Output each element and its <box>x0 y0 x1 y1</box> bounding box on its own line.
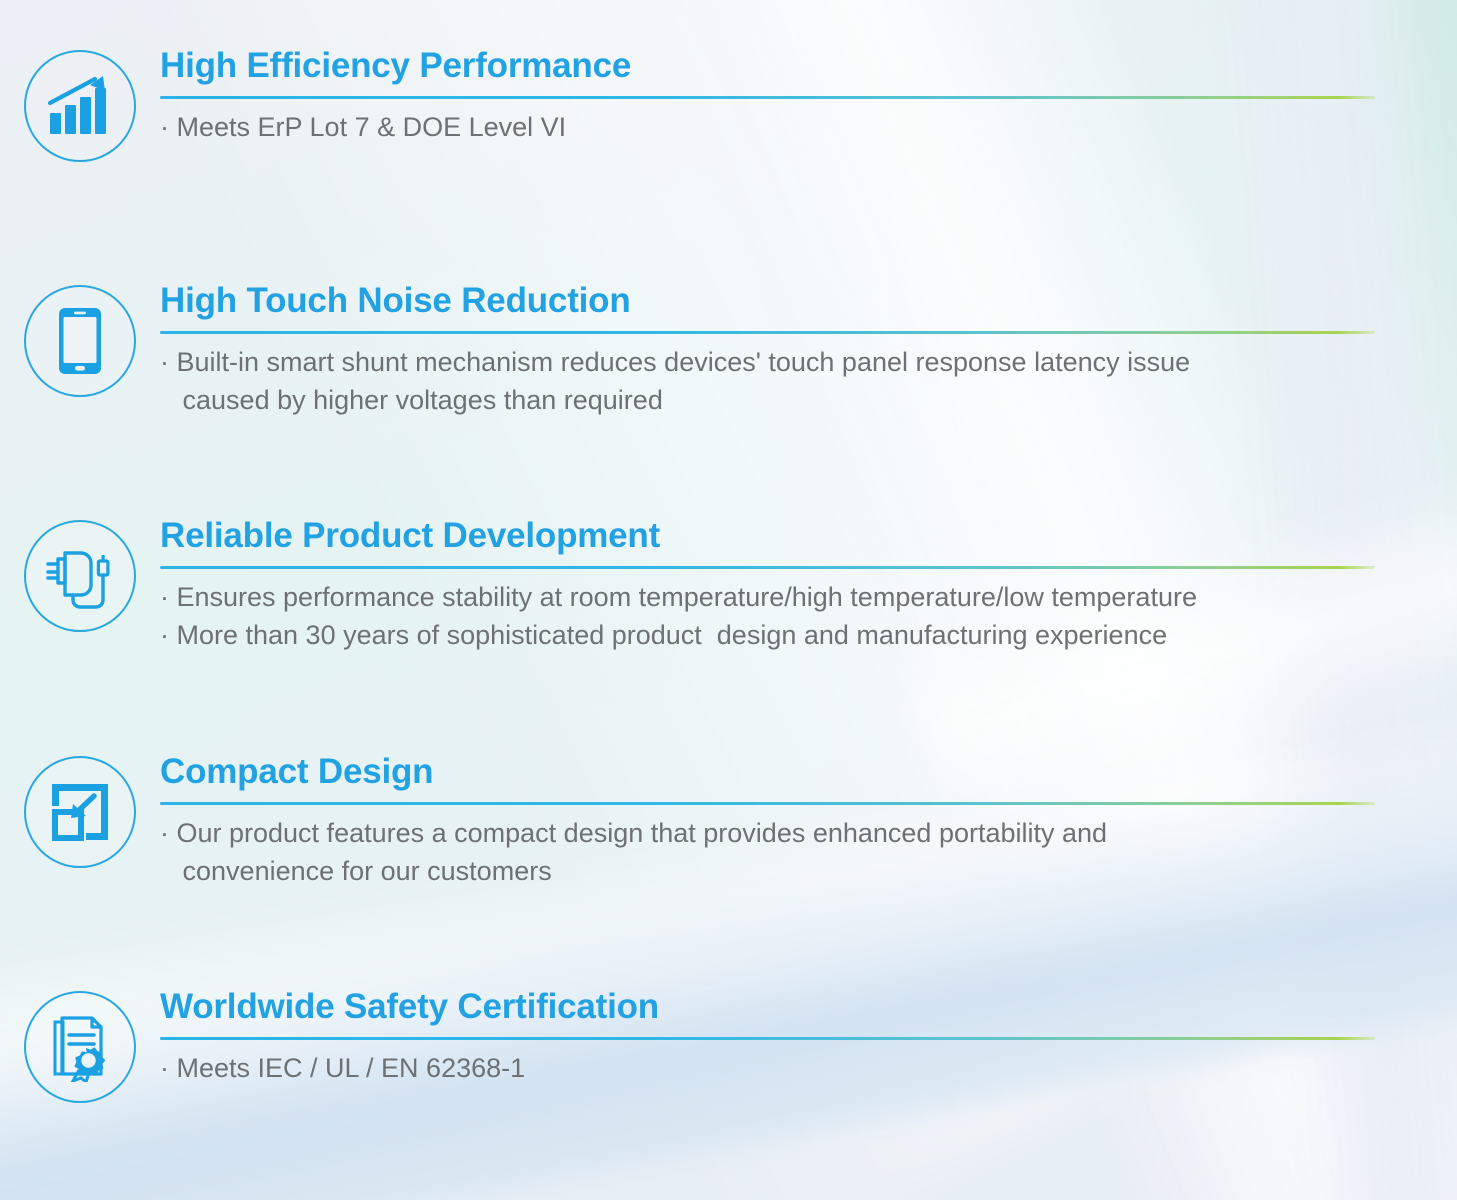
feature-lines: · Meets ErP Lot 7 & DOE Level VI <box>160 109 1375 147</box>
feature-line: convenience for our customers <box>160 853 1375 891</box>
feature-line: · Meets IEC / UL / EN 62368-1 <box>160 1050 1375 1088</box>
feature-title: Worldwide Safety Certification <box>160 987 1375 1026</box>
feature-item-high-touch-noise-reduction: High Touch Noise Reduction · Built-in sm… <box>0 281 1457 420</box>
feature-line: · Our product features a compact design … <box>160 815 1375 853</box>
feature-line: · Ensures performance stability at room … <box>160 579 1375 617</box>
smartphone-icon <box>24 285 136 397</box>
feature-line: · Meets ErP Lot 7 & DOE Level VI <box>160 109 1375 147</box>
feature-divider <box>160 96 1375 99</box>
feature-icon-wrap <box>0 46 160 162</box>
feature-icon-wrap <box>0 987 160 1103</box>
feature-body: Compact Design · Our product features a … <box>160 752 1457 891</box>
feature-icon-wrap <box>0 752 160 868</box>
power-adapter-icon <box>24 520 136 632</box>
feature-body: High Efficiency Performance · Meets ErP … <box>160 46 1457 147</box>
feature-line: · Built-in smart shunt mechanism reduces… <box>160 344 1375 382</box>
feature-list-page: High Efficiency Performance · Meets ErP … <box>0 0 1457 1200</box>
feature-icon-wrap <box>0 281 160 397</box>
feature-lines: · Built-in smart shunt mechanism reduces… <box>160 344 1375 420</box>
feature-divider <box>160 331 1375 334</box>
feature-title: High Efficiency Performance <box>160 46 1375 85</box>
feature-divider <box>160 1037 1375 1040</box>
compact-resize-icon <box>24 756 136 868</box>
feature-line: caused by higher voltages than required <box>160 382 1375 420</box>
feature-lines: · Meets IEC / UL / EN 62368-1 <box>160 1050 1375 1088</box>
feature-line: · More than 30 years of sophisticated pr… <box>160 617 1375 655</box>
feature-title: High Touch Noise Reduction <box>160 281 1375 320</box>
certificate-award-icon <box>24 991 136 1103</box>
feature-body: Reliable Product Development · Ensures p… <box>160 516 1457 655</box>
feature-body: High Touch Noise Reduction · Built-in sm… <box>160 281 1457 420</box>
feature-divider <box>160 802 1375 805</box>
feature-title: Reliable Product Development <box>160 516 1375 555</box>
feature-item-reliable-product-development: Reliable Product Development · Ensures p… <box>0 516 1457 655</box>
feature-divider <box>160 566 1375 569</box>
feature-item-high-efficiency-performance: High Efficiency Performance · Meets ErP … <box>0 46 1457 162</box>
feature-body: Worldwide Safety Certification · Meets I… <box>160 987 1457 1088</box>
feature-list: High Efficiency Performance · Meets ErP … <box>0 0 1457 1200</box>
feature-title: Compact Design <box>160 752 1375 791</box>
feature-item-compact-design: Compact Design · Our product features a … <box>0 752 1457 891</box>
feature-icon-wrap <box>0 516 160 632</box>
bar-chart-growth-icon <box>24 50 136 162</box>
feature-lines: · Ensures performance stability at room … <box>160 579 1375 655</box>
feature-item-worldwide-safety-certification: Worldwide Safety Certification · Meets I… <box>0 987 1457 1103</box>
feature-lines: · Our product features a compact design … <box>160 815 1375 891</box>
